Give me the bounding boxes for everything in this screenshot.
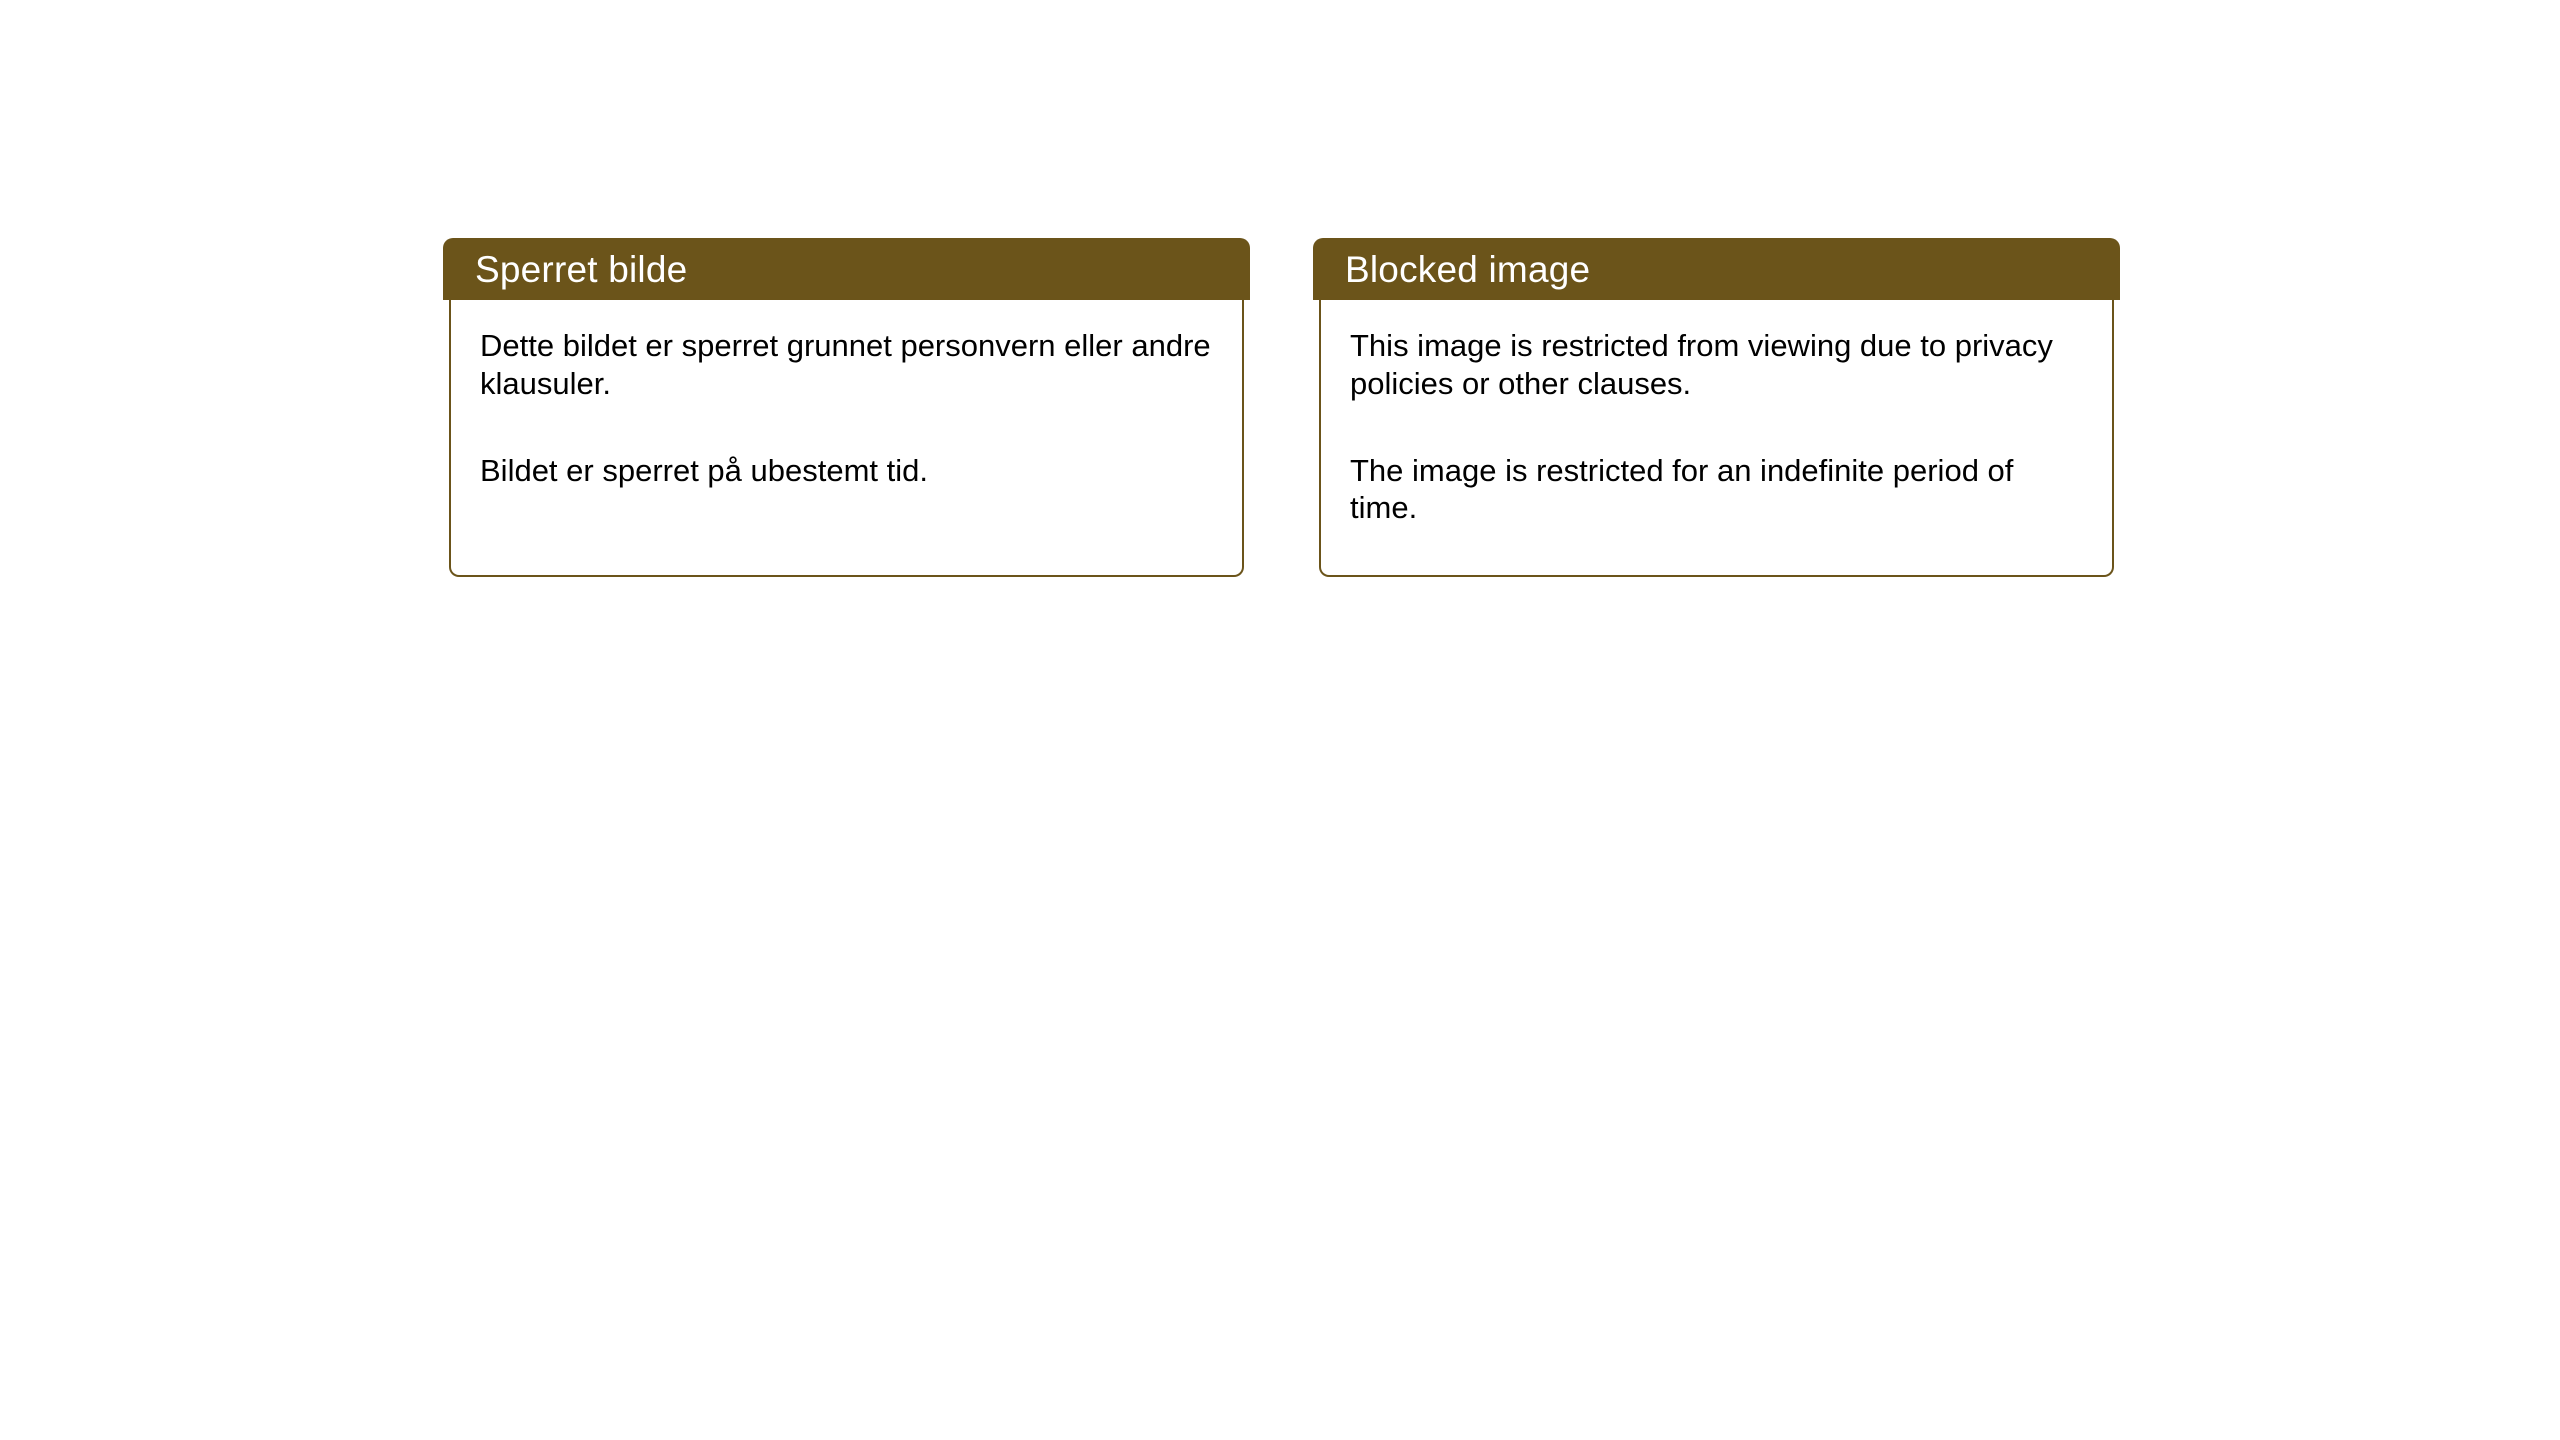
- panel-title-english: Blocked image: [1345, 251, 1590, 288]
- panel-paragraph-norwegian-2: Bildet er sperret på ubestemt tid.: [480, 452, 1216, 490]
- panel-paragraph-norwegian-1: Dette bildet er sperret grunnet personve…: [480, 327, 1216, 403]
- blocked-image-notice-container: Sperret bilde Dette bildet er sperret gr…: [443, 238, 2120, 577]
- panel-body-english: This image is restricted from viewing du…: [1319, 299, 2114, 577]
- panel-paragraph-english-2: The image is restricted for an indefinit…: [1350, 452, 2086, 528]
- blocked-image-panel-english: Blocked image This image is restricted f…: [1313, 238, 2120, 577]
- panel-body-norwegian: Dette bildet er sperret grunnet personve…: [449, 299, 1244, 577]
- panel-title-norwegian: Sperret bilde: [475, 251, 687, 288]
- blocked-image-panel-norwegian: Sperret bilde Dette bildet er sperret gr…: [443, 238, 1250, 577]
- panel-paragraph-english-1: This image is restricted from viewing du…: [1350, 327, 2086, 403]
- panel-header-norwegian: Sperret bilde: [443, 238, 1250, 300]
- panel-header-english: Blocked image: [1313, 238, 2120, 300]
